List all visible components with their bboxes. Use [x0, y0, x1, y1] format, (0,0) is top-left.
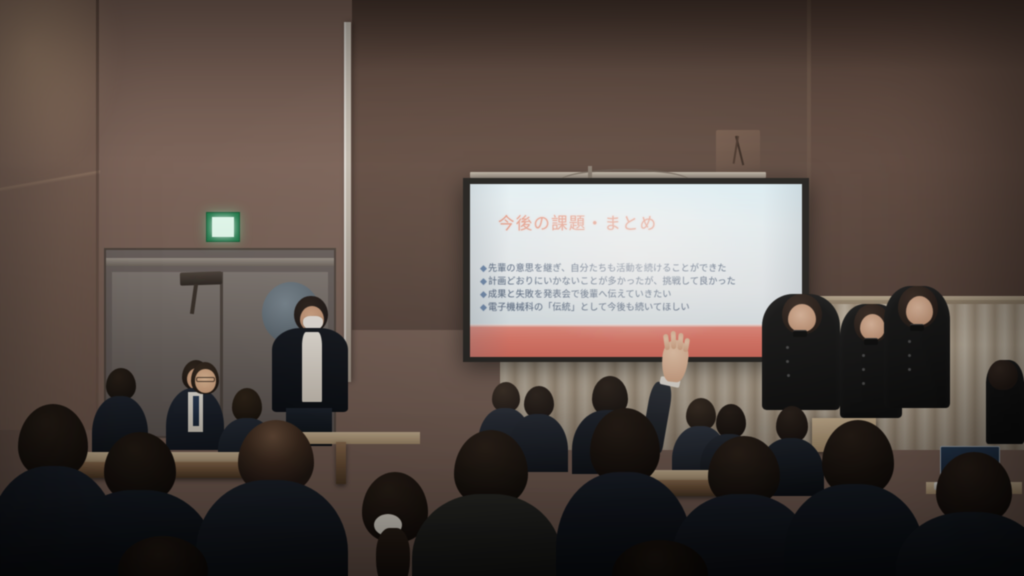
door-closer	[180, 271, 222, 285]
student-2-button	[862, 368, 865, 371]
student-3-button	[908, 340, 911, 343]
ceiling-shadow	[352, 0, 1024, 70]
student-3-button	[908, 354, 911, 357]
slide-bullet-1-text: 先輩の意思を継ぎ、自分たちも活動を続けることができた	[488, 263, 727, 273]
projection-screen-surface: 今後の課題・まとめ ◆先輩の意思を継ぎ、自分たちも活動を続けることができた ◆計…	[470, 184, 802, 357]
wall-fixture-icon	[716, 130, 760, 176]
student-2-button	[862, 354, 865, 357]
student-2-face	[860, 314, 885, 340]
slide-bullet-list: ◆先輩の意思を継ぎ、自分たちも活動を続けることができた ◆計画どおりにいかないこ…	[480, 262, 794, 314]
foreground-audience-7	[896, 452, 1024, 576]
head	[716, 404, 746, 438]
wall-seam-diagonal	[0, 150, 100, 210]
eyeglasses-icon	[196, 377, 215, 382]
student-2-button	[862, 382, 865, 385]
student-1-face	[788, 304, 816, 332]
slide-bullet-2: ◆計画どおりにいかないことが多かったが、挑戦して良かった	[480, 275, 794, 288]
student-3-collar	[910, 324, 924, 331]
student-1-button	[786, 346, 789, 349]
bullet-marker-icon: ◆	[480, 263, 487, 273]
slide-bullet-3-text: 成果と失敗を発表会で後輩へ伝えていきたい	[488, 289, 671, 299]
ponytail	[376, 528, 410, 576]
masked-man-shirt	[302, 332, 322, 402]
student-4-head	[988, 360, 1018, 390]
slide-bullet-2-text: 計画どおりにいかないことが多かったが、挑戦して良かった	[488, 276, 736, 286]
head	[232, 388, 262, 422]
slide-accent-band	[470, 327, 802, 357]
shoulders	[412, 494, 562, 576]
raised-hand-finger	[671, 331, 677, 349]
foreground-audience-balding	[196, 420, 348, 576]
slide-bullet-4-text: 電子機械科の「伝統」として今後も続いてほしい	[488, 302, 690, 312]
door-header-bar	[106, 258, 334, 266]
foreground-audience-3	[412, 430, 562, 576]
student-1-collar	[793, 330, 807, 337]
shoulders	[196, 480, 348, 576]
screen-mount-hook	[588, 166, 592, 178]
presentation-hall-scene: 今後の課題・まとめ ◆先輩の意思を継ぎ、自分たちも活動を続けることができた ◆計…	[0, 0, 1024, 576]
student-3-button	[908, 368, 911, 371]
exit-sign-icon	[206, 212, 240, 242]
student-3-face	[906, 296, 933, 325]
bullet-marker-icon: ◆	[480, 276, 487, 286]
slide-bullet-1: ◆先輩の意思を継ぎ、自分たちも活動を続けることができた	[480, 262, 794, 275]
bullet-marker-icon: ◆	[480, 289, 487, 299]
projection-screen: 今後の課題・まとめ ◆先輩の意思を継ぎ、自分たちも活動を続けることができた ◆計…	[463, 178, 809, 362]
slide-title: 今後の課題・まとめ	[498, 210, 657, 234]
bullet-marker-icon: ◆	[480, 302, 487, 312]
slide-bullet-4: ◆電子機械科の「伝統」として今後も続いてほしい	[480, 301, 794, 314]
student-2-collar	[864, 338, 878, 345]
student-1-button	[786, 360, 789, 363]
student-1-button	[787, 374, 790, 377]
shoulders	[896, 512, 1024, 576]
slide-bullet-3: ◆成果と失敗を発表会で後輩へ伝えていきたい	[480, 288, 794, 301]
